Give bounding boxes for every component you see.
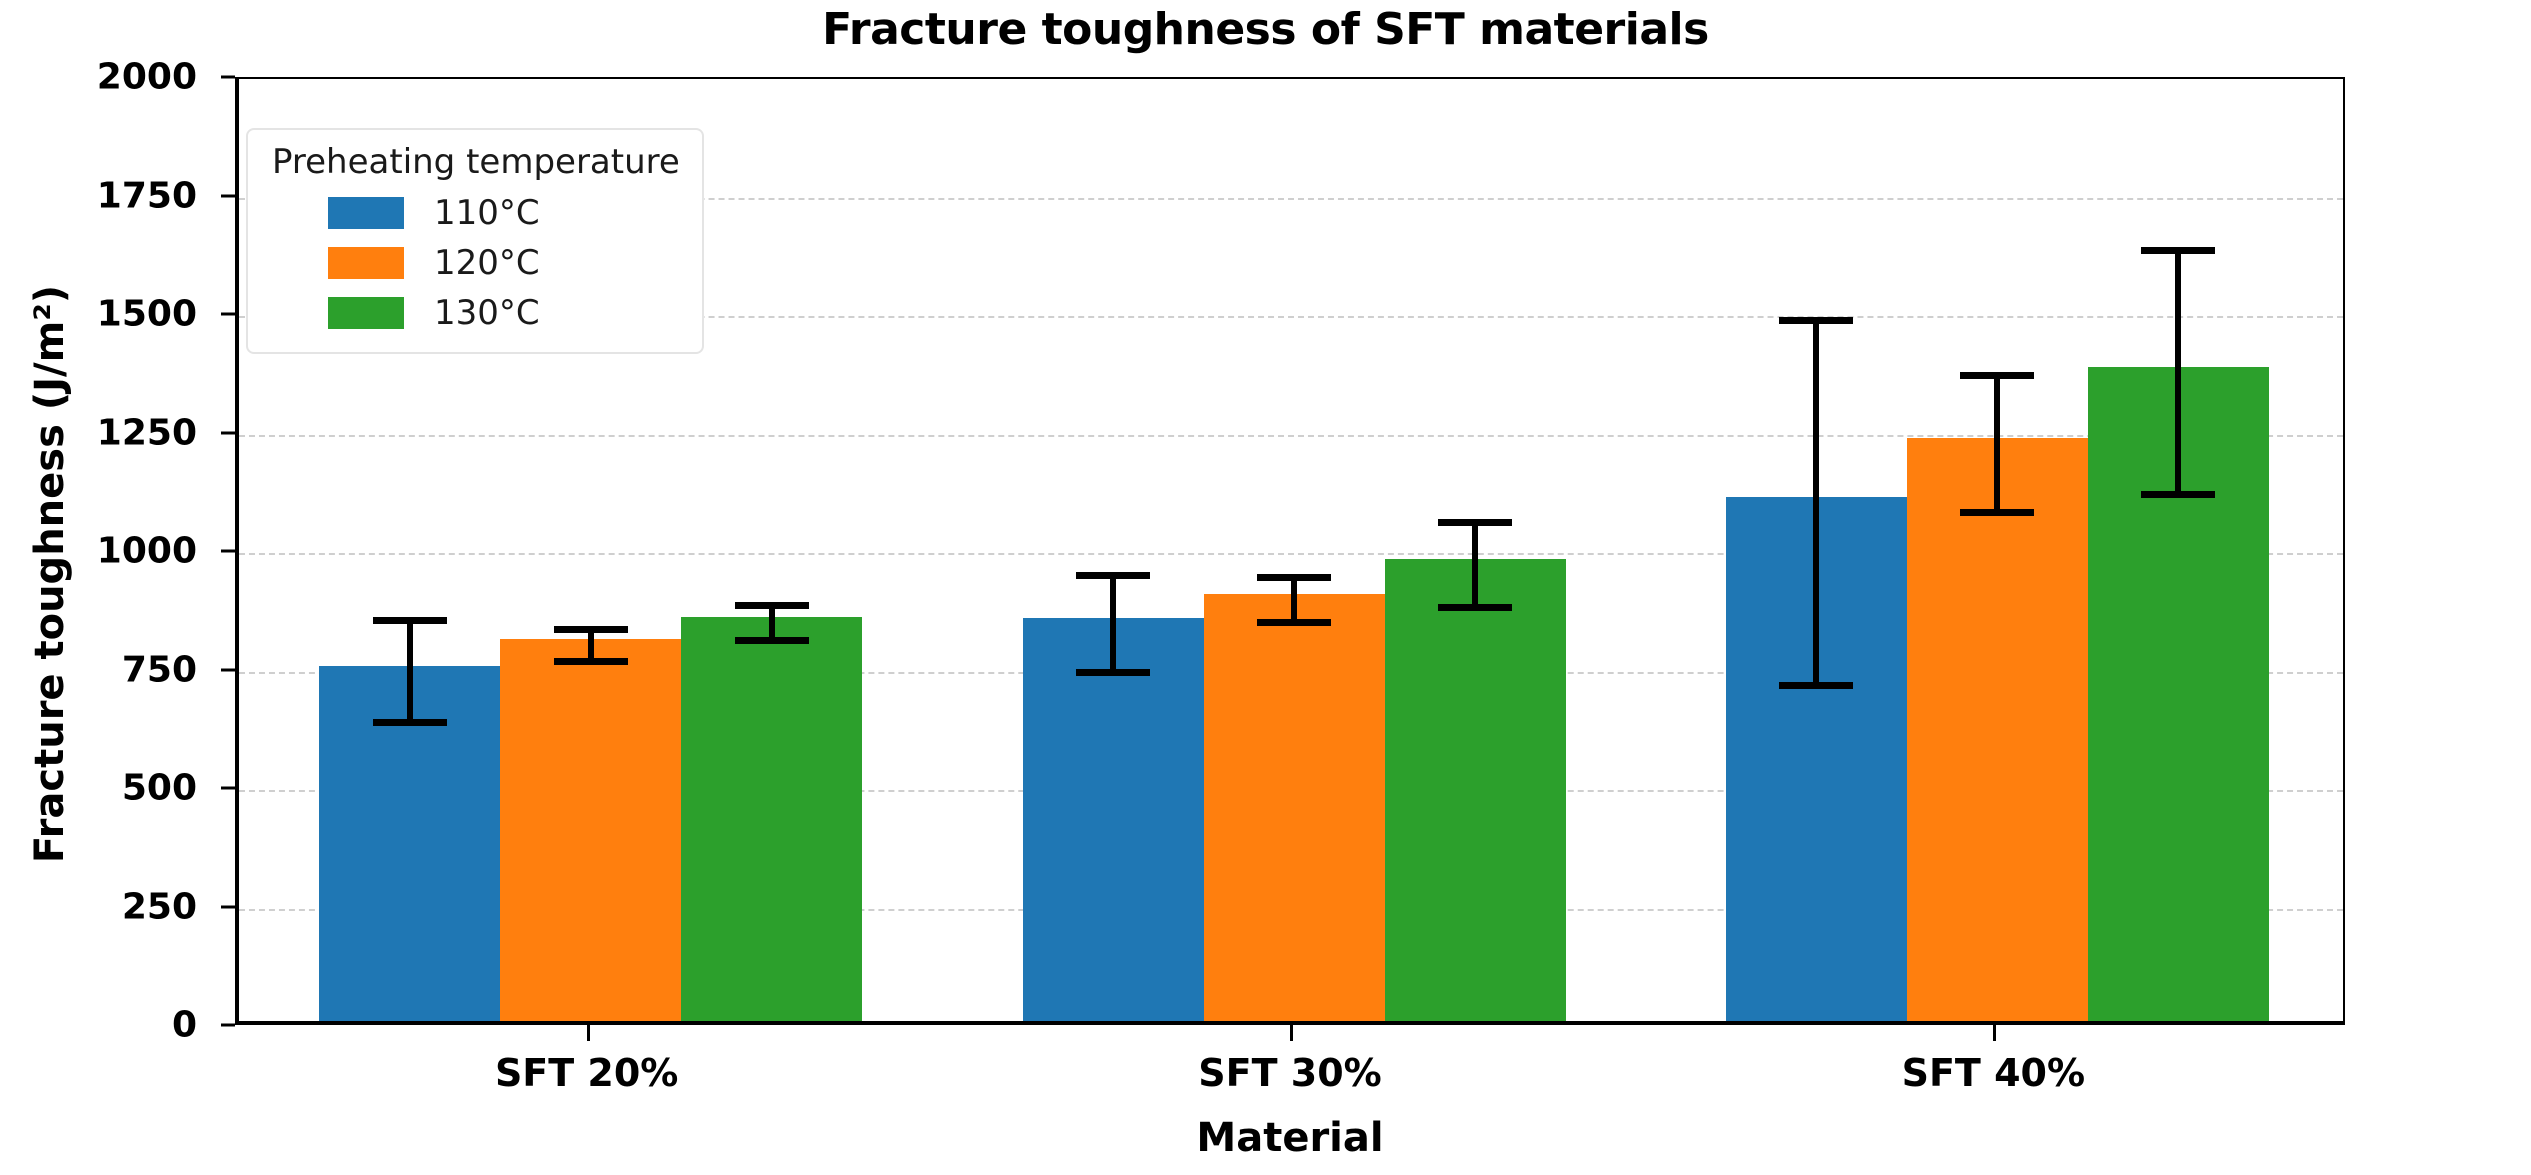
error-bar-cap-lower <box>735 637 809 644</box>
error-bar-stem <box>2175 247 2181 498</box>
error-bar-cap-upper <box>1960 372 2034 379</box>
error-bar-stem <box>1110 572 1116 676</box>
error-bar <box>2088 247 2269 498</box>
error-bar <box>1726 317 1907 689</box>
y-axis-label: Fracture toughness (J/m²) <box>27 214 73 934</box>
error-bar-stem <box>407 617 413 726</box>
error-bar-cap-lower <box>1257 619 1331 626</box>
y-tick-mark <box>221 550 235 553</box>
error-bar-cap-lower <box>373 719 447 726</box>
legend-item[interactable]: 110°C <box>270 188 680 238</box>
error-bar <box>500 626 681 666</box>
error-bar-cap-upper <box>1438 519 1512 526</box>
chart-figure: Fracture toughness of SFT materials Frac… <box>0 0 2531 1175</box>
x-axis-label: Material <box>235 1115 2345 1161</box>
legend-swatch <box>328 197 404 229</box>
x-tick-mark <box>587 1025 590 1041</box>
legend-swatch <box>328 297 404 329</box>
y-axis: Fracture toughness (J/m²) 02505007501000… <box>0 77 235 1025</box>
bar <box>500 639 681 1021</box>
bar <box>681 617 862 1021</box>
bar <box>1204 594 1385 1021</box>
error-bar-cap-lower <box>1076 669 1150 676</box>
bar <box>1023 618 1204 1021</box>
error-bar-cap-upper <box>2141 247 2215 254</box>
x-tick-label: SFT 30% <box>1198 1051 1381 1095</box>
y-tick-mark <box>221 431 235 434</box>
error-bar <box>1204 574 1385 626</box>
y-tick-mark <box>221 1024 235 1027</box>
y-tick-label: 500 <box>122 768 197 809</box>
y-tick-mark <box>221 787 235 790</box>
error-bar-cap-upper <box>1779 317 1853 324</box>
error-bar-cap-upper <box>554 626 628 633</box>
error-bar-cap-upper <box>1257 574 1331 581</box>
legend-swatch <box>328 247 404 279</box>
legend-title: Preheating temperature <box>270 142 680 182</box>
y-tick-mark <box>221 76 235 79</box>
y-tick-label: 1250 <box>97 412 197 453</box>
error-bar-stem <box>1472 519 1478 611</box>
y-tick-label: 2000 <box>97 57 197 98</box>
error-bar <box>1023 572 1204 676</box>
error-bar-cap-upper <box>373 617 447 624</box>
legend-item-label: 110°C <box>434 193 540 233</box>
error-bar-cap-upper <box>1076 572 1150 579</box>
x-tick-mark <box>1290 1025 1293 1041</box>
y-tick-label: 1500 <box>97 294 197 335</box>
bar <box>1907 438 2088 1021</box>
error-bar-cap-lower <box>1960 509 2034 516</box>
error-bar-cap-lower <box>2141 491 2215 498</box>
y-tick-mark <box>221 194 235 197</box>
y-tick-mark <box>221 905 235 908</box>
error-bar-stem <box>1994 372 2000 516</box>
y-tick-label: 750 <box>122 649 197 690</box>
y-tick-mark <box>221 313 235 316</box>
error-bar-stem <box>1813 317 1819 689</box>
x-tick-mark <box>1993 1025 1996 1041</box>
bar <box>1385 559 1566 1021</box>
y-tick-mark <box>221 668 235 671</box>
legend-item[interactable]: 130°C <box>270 288 680 338</box>
error-bar <box>1385 519 1566 611</box>
error-bar-cap-lower <box>1438 604 1512 611</box>
error-bar-cap-lower <box>554 658 628 665</box>
legend-item-label: 130°C <box>434 293 540 333</box>
x-tick-label: SFT 40% <box>1902 1051 2085 1095</box>
legend-rows: 110°C120°C130°C <box>270 188 680 338</box>
y-tick-label: 250 <box>122 886 197 927</box>
error-bar <box>681 602 862 645</box>
x-axis: Material SFT 20%SFT 30%SFT 40% <box>235 1025 2345 1175</box>
error-bar-cap-lower <box>1779 682 1853 689</box>
error-bar <box>319 617 500 726</box>
chart-title: Fracture toughness of SFT materials <box>0 4 2531 55</box>
y-tick-label: 1750 <box>97 175 197 216</box>
legend-item-label: 120°C <box>434 243 540 283</box>
error-bar <box>1907 372 2088 516</box>
legend: Preheating temperature 110°C120°C130°C <box>246 128 704 354</box>
legend-item[interactable]: 120°C <box>270 238 680 288</box>
error-bar-cap-upper <box>735 602 809 609</box>
y-tick-label: 0 <box>172 1005 197 1046</box>
y-tick-label: 1000 <box>97 531 197 572</box>
x-tick-label: SFT 20% <box>495 1051 678 1095</box>
